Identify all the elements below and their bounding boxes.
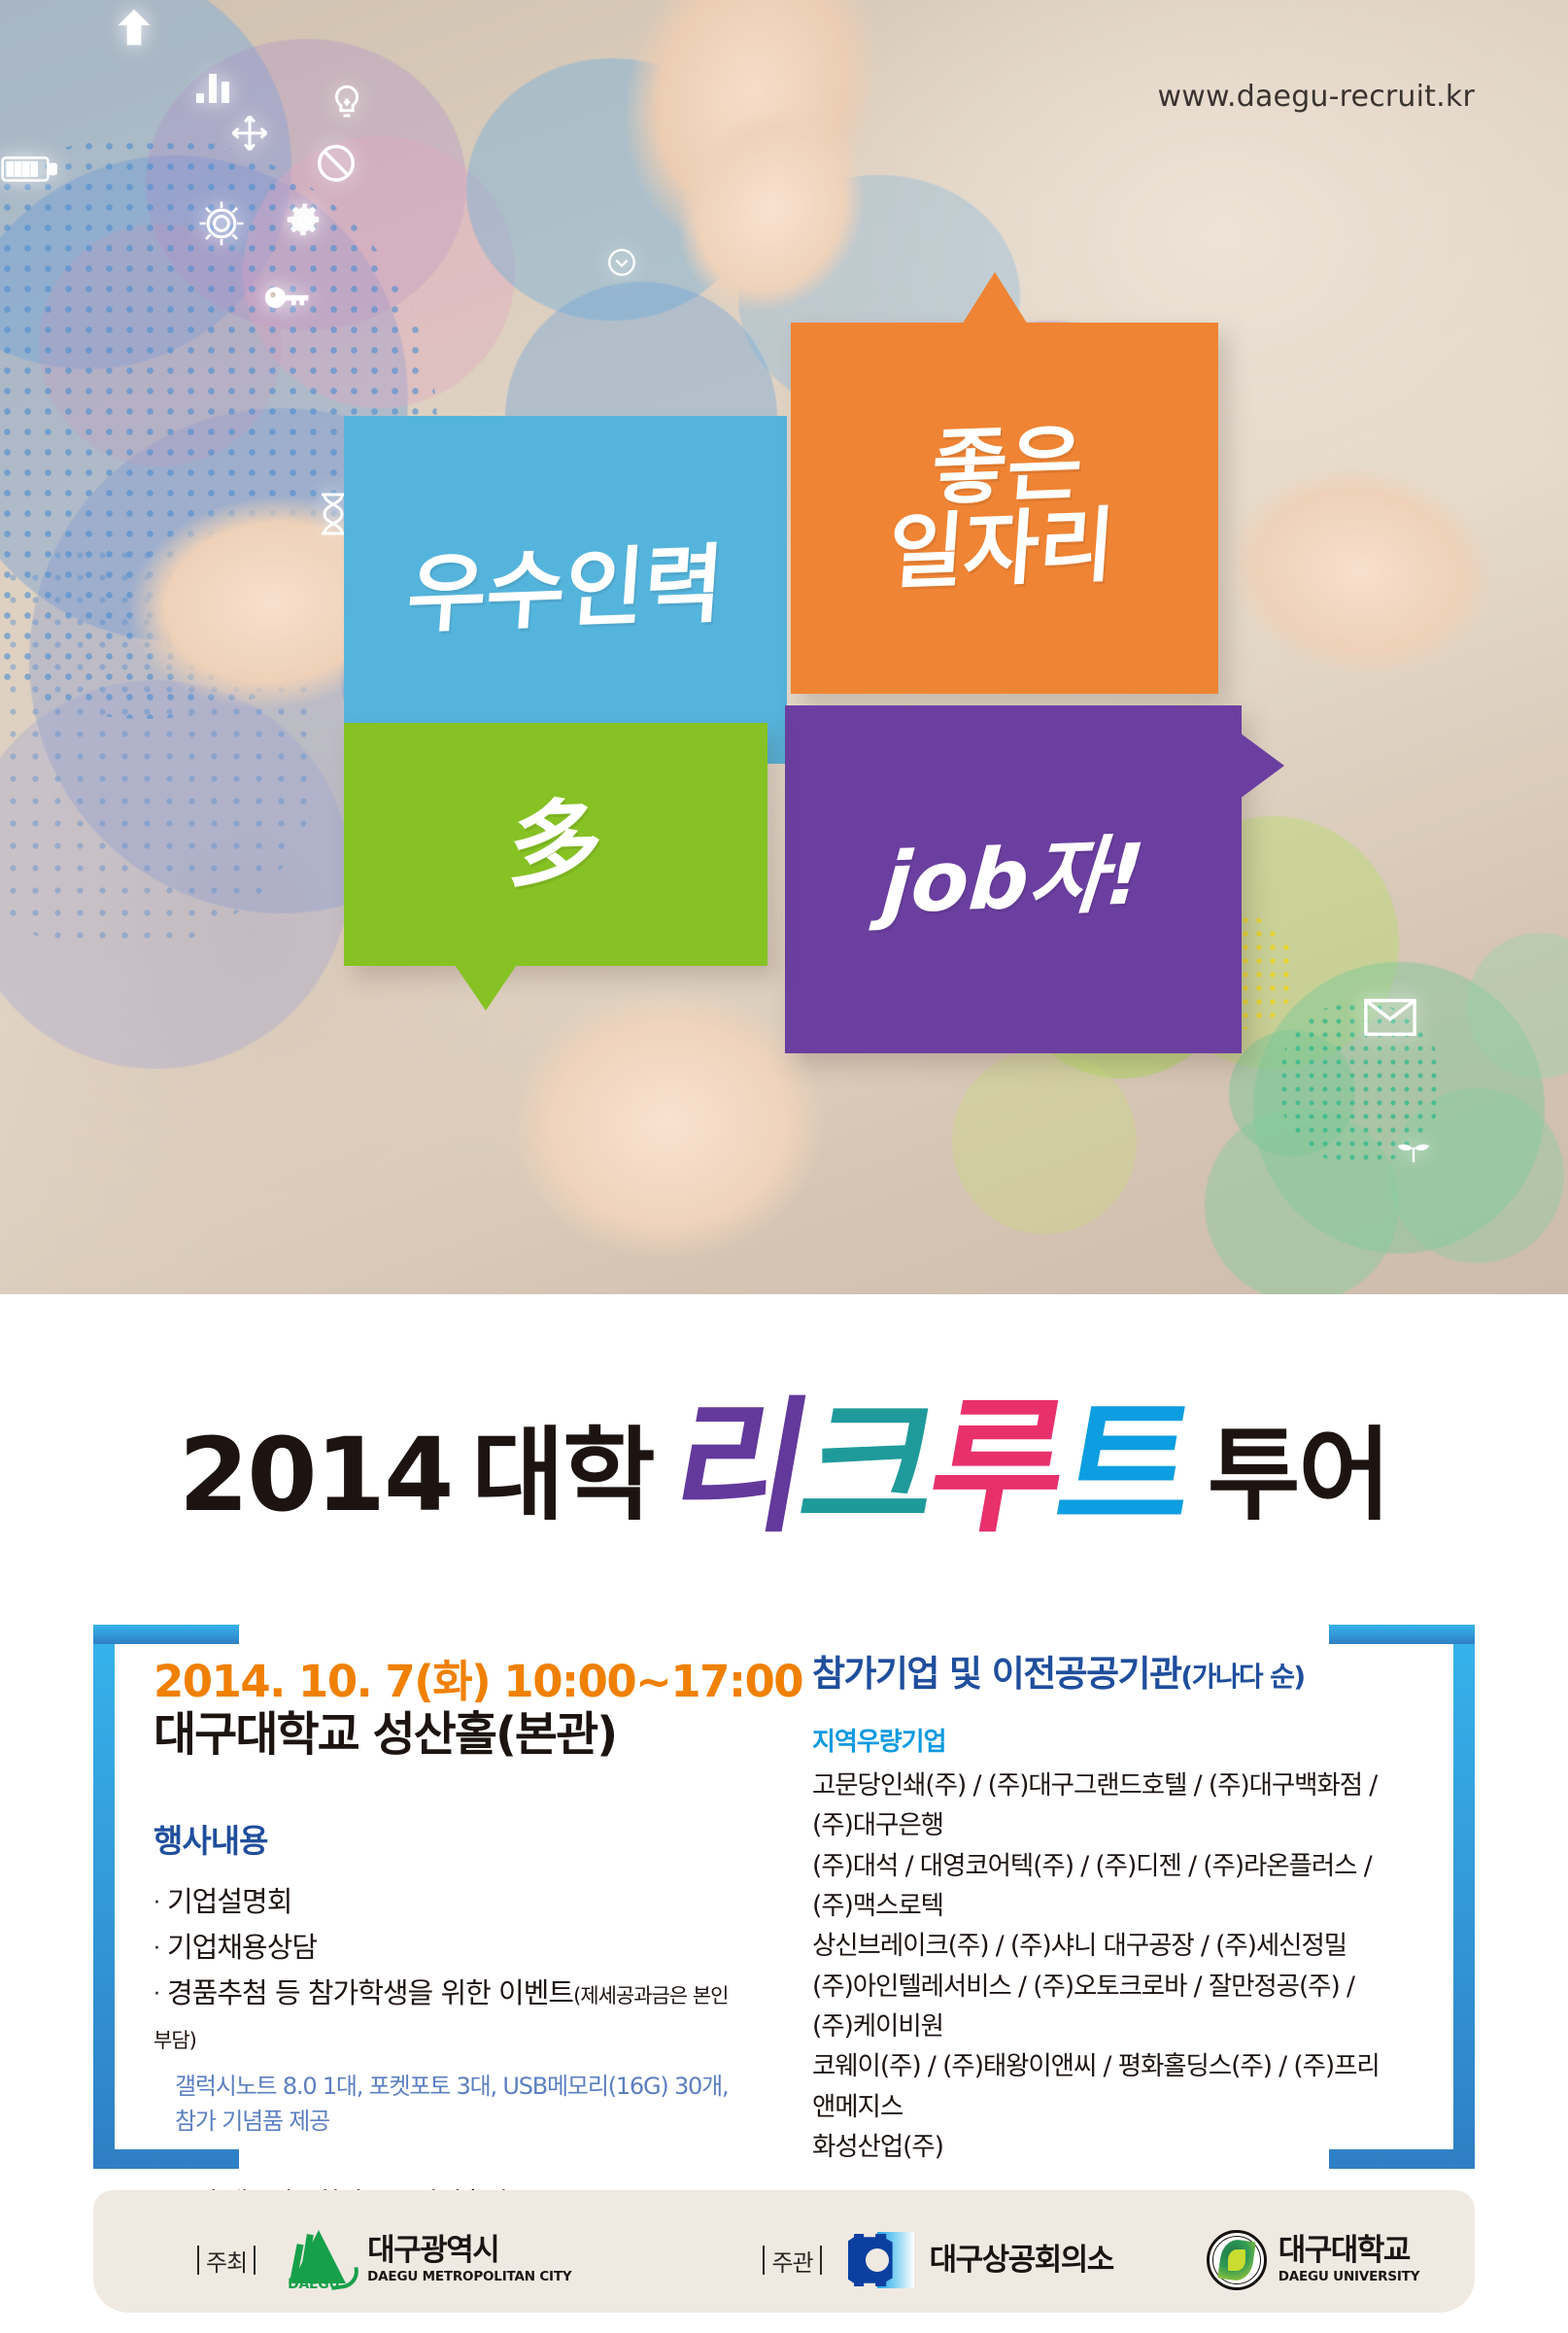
arrow-up-icon bbox=[107, 0, 161, 54]
bracket-right-top bbox=[1329, 1625, 1475, 1644]
company-line: (주)아인텔레서비스 / (주)오토크로바 / 잘만정공(주) / (주)케이비… bbox=[812, 1967, 1395, 2047]
logo-text: 대구광역시 DAEGU METROPOLITAN CITY bbox=[367, 2236, 571, 2284]
no-entry-icon bbox=[309, 136, 363, 190]
title-logo-char-2: 크 bbox=[792, 1406, 942, 1531]
bubble-text: 多 bbox=[505, 796, 605, 892]
bullet-dot-icon: · bbox=[153, 1982, 159, 2007]
site-url[interactable]: www.daegu-recruit.kr bbox=[1158, 80, 1475, 114]
mark-wordmark: DAEGU bbox=[288, 2277, 339, 2292]
bubble-excellent-talent: 우수인력 bbox=[344, 416, 787, 764]
chevron-down-icon bbox=[600, 241, 643, 284]
bullet-dot-icon: · bbox=[153, 1891, 159, 1915]
company-line: 고문당인쇄(주) / (주)대구그랜드호텔 / (주)대구백화점 / (주)대구… bbox=[812, 1766, 1395, 1846]
list-item-label: 기업채용상담 bbox=[167, 1931, 317, 1964]
bubble-tail bbox=[1240, 733, 1284, 799]
host-label-text: 주최 bbox=[206, 2244, 247, 2278]
bubble-tail bbox=[962, 272, 1028, 325]
logo-name-kr: 대구광역시 bbox=[367, 2236, 571, 2266]
logo-text: 대구대학교 DAEGU UNIVERSITY bbox=[1278, 2236, 1420, 2284]
bubble-tail bbox=[453, 962, 519, 1011]
bracket-left-vertical bbox=[93, 1625, 115, 2169]
bubble-good-jobs: 좋은 일자리 bbox=[791, 323, 1218, 694]
title-logo-char-1: 리 bbox=[664, 1406, 814, 1531]
daegu-city-mark-icon: DAEGU bbox=[284, 2230, 356, 2290]
info-left-column: 2014. 10. 7(화) 10:00~17:00 대구대학교 성산홀(본관)… bbox=[153, 1658, 746, 2219]
company-line: 코웨이(주) / (주)태왕이앤씨 / 평화홀딩스(주) / (주)프리앤메지스 bbox=[812, 2046, 1395, 2127]
logo-name-en: DAEGU METROPOLITAN CITY bbox=[367, 2271, 571, 2284]
logo-dcci: 대구상공회의소 bbox=[848, 2230, 1113, 2290]
local-companies-heading: 지역우량기업 bbox=[812, 1722, 1395, 1758]
bracket-right-vertical bbox=[1453, 1625, 1475, 2169]
participants-heading-sub: (가나다 순) bbox=[1180, 1661, 1304, 1693]
bubble-text: job자! bbox=[879, 833, 1146, 925]
battery-icon bbox=[0, 144, 66, 194]
sponsor-footer: 주최 DAEGU 대구광역시 DAEGU METROPOLITAN CITY 주… bbox=[93, 2208, 1475, 2313]
event-program-heading: 행사내용 bbox=[153, 1815, 746, 1862]
company-line: 화성산업(주) bbox=[812, 2127, 1395, 2167]
daegu-univ-mark-icon bbox=[1207, 2230, 1267, 2290]
move-arrows-icon bbox=[222, 105, 278, 161]
title-recruit-logo: 리 크 루 트 bbox=[664, 1406, 1199, 1531]
logo-daegu-university: 대구대학교 DAEGU UNIVERSITY bbox=[1207, 2230, 1420, 2290]
gear-icon bbox=[190, 192, 253, 255]
host-label: 주최 bbox=[190, 2244, 262, 2278]
key-icon bbox=[258, 272, 317, 326]
gear-small-icon bbox=[278, 194, 332, 249]
event-program-list: ·기업설명회 ·기업채용상담 ·경품추첨 등 참가학생을 위한 이벤트(제세공과… bbox=[153, 1879, 746, 2062]
info-panel: 2014. 10. 7(화) 10:00~17:00 대구대학교 성산홀(본관)… bbox=[93, 1625, 1475, 2169]
event-venue: 대구대학교 성산홀(본관) bbox=[153, 1708, 746, 1762]
mark-leaf-inner bbox=[1228, 2249, 1245, 2271]
hero-banner: 우수인력 좋은 일자리 job자! 多 www.daegu-recruit.kr bbox=[0, 0, 1568, 1294]
label-bar-left bbox=[763, 2246, 765, 2275]
poster-title: 2014 대학 리 크 루 트 투어 bbox=[0, 1356, 1568, 1531]
decor-blob bbox=[952, 1049, 1137, 1234]
label-bar-right bbox=[254, 2246, 256, 2275]
title-logo-char-4: 트 bbox=[1048, 1406, 1199, 1531]
label-bar-left bbox=[197, 2246, 199, 2275]
list-item-label: 경품추첨 등 참가학생을 위한 이벤트 bbox=[167, 1976, 573, 2009]
list-item: ·기업채용상담 bbox=[153, 1925, 746, 1971]
logo-daegu-city: DAEGU 대구광역시 DAEGU METROPOLITAN CITY bbox=[284, 2230, 571, 2290]
poster-root: 우수인력 좋은 일자리 job자! 多 www.daegu-recruit.kr… bbox=[0, 0, 1568, 2333]
bubble-text: 좋은 일자리 bbox=[886, 421, 1124, 595]
title-tour: 투어 bbox=[1208, 1424, 1389, 1526]
logo-text: 대구상공회의소 bbox=[930, 2246, 1113, 2276]
bracket-left-top bbox=[93, 1625, 239, 1644]
title-year: 2014 bbox=[179, 1424, 452, 1526]
title-logo-char-3: 루 bbox=[920, 1406, 1071, 1531]
bubble-text: 우수인력 bbox=[404, 541, 726, 637]
organizer-label-text: 주관 bbox=[771, 2244, 812, 2278]
mark-gear-hole bbox=[866, 2248, 889, 2272]
sprout-icon bbox=[1385, 1117, 1442, 1172]
dcci-gear-mark-icon bbox=[848, 2230, 918, 2290]
participants-heading-main: 참가기업 및 이전공공기관 bbox=[812, 1653, 1180, 1695]
company-line: 상신브레이크(주) / (주)샤니 대구공장 / (주)세신정밀 bbox=[812, 1926, 1395, 1966]
bubble-text-line2: 일자리 bbox=[885, 497, 1117, 600]
event-datetime: 2014. 10. 7(화) 10:00~17:00 bbox=[153, 1658, 746, 1706]
logo-name-kr: 대구상공회의소 bbox=[930, 2246, 1113, 2276]
lightbulb-icon bbox=[321, 76, 373, 128]
logo-name-en: DAEGU UNIVERSITY bbox=[1278, 2271, 1420, 2284]
local-companies-list: 고문당인쇄(주) / (주)대구그랜드호텔 / (주)대구백화점 / (주)대구… bbox=[812, 1766, 1395, 2167]
organizer-label: 주관 bbox=[756, 2244, 828, 2278]
prize-details: 갤럭시노트 8.0 1대, 포켓포토 3대, USB메모리(16G) 30개, … bbox=[175, 2069, 746, 2139]
list-item: ·기업설명회 bbox=[153, 1879, 746, 1925]
title-university: 대학 bbox=[471, 1424, 653, 1526]
list-item-label: 기업설명회 bbox=[167, 1885, 291, 1918]
label-bar-right bbox=[820, 2246, 822, 2275]
participants-heading: 참가기업 및 이전공공기관(가나다 순) bbox=[812, 1644, 1395, 1697]
bubble-many: 多 bbox=[344, 723, 767, 966]
logo-name-kr: 대구대학교 bbox=[1278, 2236, 1420, 2266]
company-line: (주)대석 / 대영코어텍(주) / (주)디젠 / (주)라온플러스 / (주… bbox=[812, 1846, 1395, 1927]
bullet-dot-icon: · bbox=[153, 1937, 159, 1961]
list-item: ·경품추첨 등 참가학생을 위한 이벤트(제세공과금은 본인 부담) bbox=[153, 1971, 746, 2062]
bubble-job-ja: job자! bbox=[785, 705, 1242, 1053]
envelope-icon bbox=[1358, 991, 1422, 1044]
